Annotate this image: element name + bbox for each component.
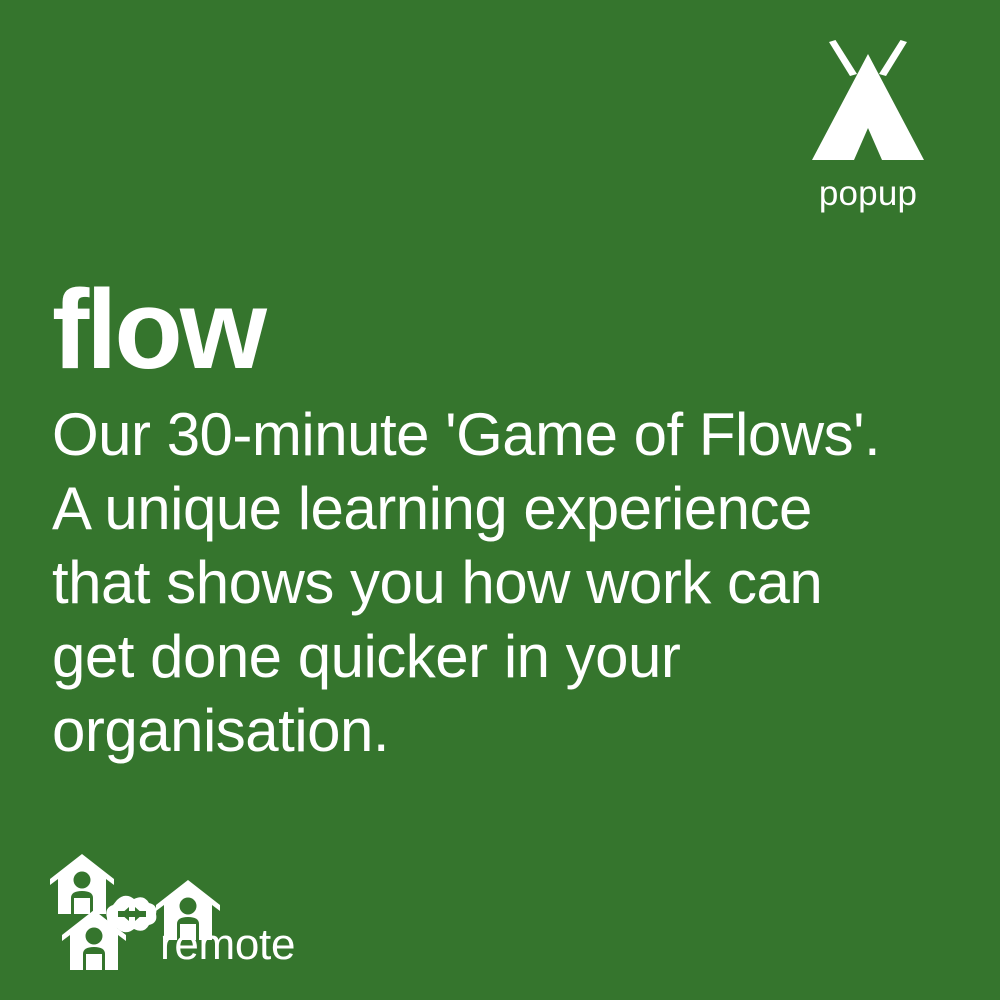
brand-name: popup [819, 176, 917, 211]
brand-logo-group[interactable]: popup [788, 40, 948, 211]
remote-label: remote [160, 923, 295, 967]
body-text: Our 30-minute 'Game of Flows'. A unique … [52, 398, 952, 768]
page-title: flow [52, 274, 264, 386]
promo-card: popup flow Our 30-minute 'Game of Flows'… [0, 0, 1000, 1000]
tent-icon [808, 40, 928, 162]
remote-tag: remote [48, 854, 234, 972]
